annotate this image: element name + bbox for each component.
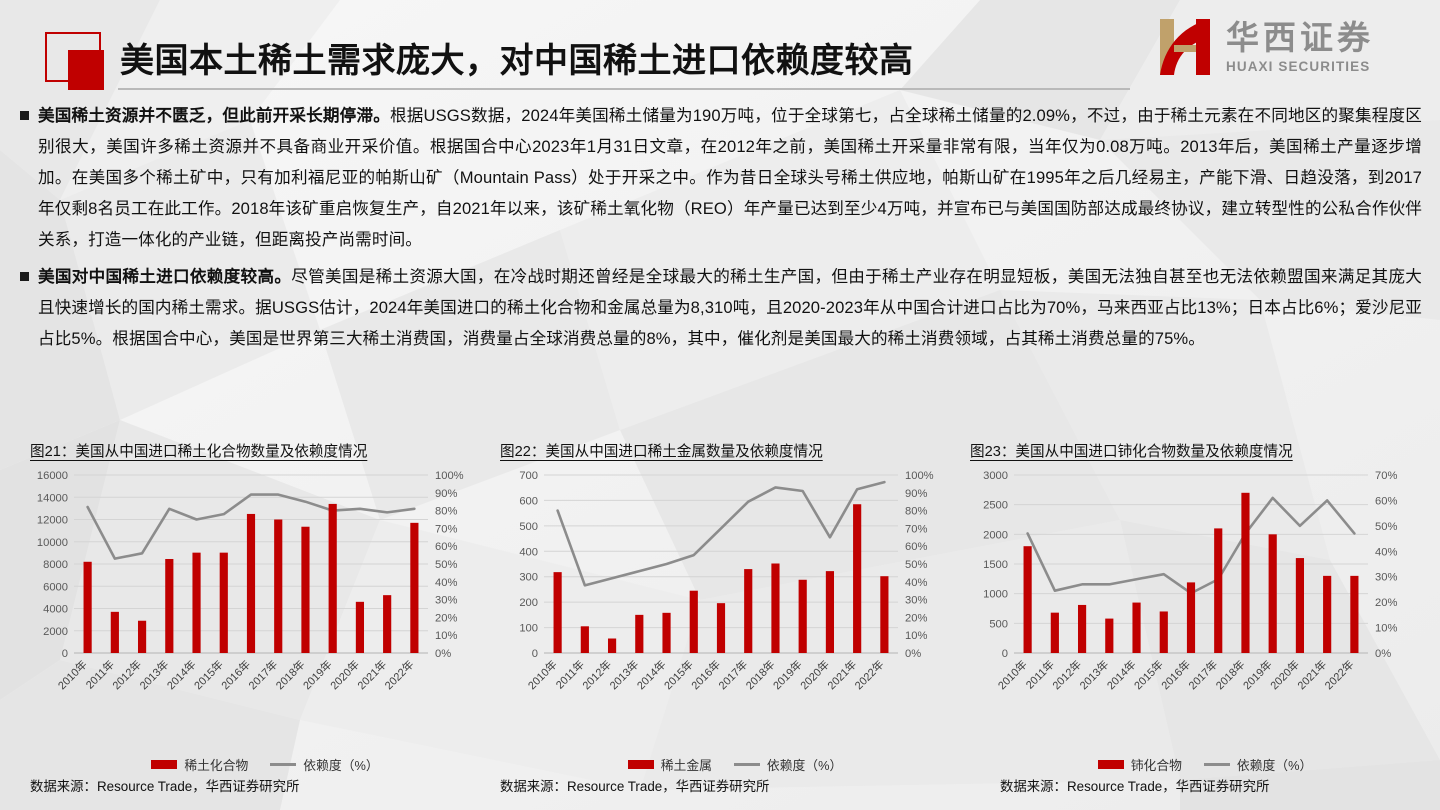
legend-item-line: 依赖度（%） (270, 755, 378, 774)
legend-line-swatch (1204, 763, 1230, 767)
paragraph-2: 美国对中国稀土进口依赖度较高。尽管美国是稀土资源大国，在冷战时期还曾经是全球最大… (0, 261, 1440, 354)
svg-text:500: 500 (989, 618, 1008, 630)
svg-text:2013年: 2013年 (136, 657, 171, 692)
svg-text:2020年: 2020年 (797, 657, 832, 692)
svg-text:2011年: 2011年 (83, 657, 117, 691)
legend-line-swatch (270, 763, 296, 767)
chart-legend-fig22: 稀土金属 依赖度（%） (500, 755, 970, 774)
svg-text:2015年: 2015年 (191, 657, 226, 692)
legend-bar-swatch (628, 760, 654, 769)
svg-text:80%: 80% (905, 506, 927, 518)
legend-item-line: 依赖度（%） (1204, 755, 1312, 774)
body-content: 美国稀土资源并不匮乏，但此前开采长期停滞。根据USGS数据，2024年美国稀土储… (0, 100, 1440, 360)
svg-text:200: 200 (519, 597, 538, 609)
svg-text:400: 400 (519, 546, 538, 558)
svg-text:2012年: 2012年 (1049, 657, 1084, 692)
chart-block-fig21: 图21：美国从中国进口稀土化合物数量及依赖度情况 020004000600080… (30, 440, 500, 800)
svg-text:2022年: 2022年 (382, 657, 417, 692)
svg-text:40%: 40% (905, 577, 927, 589)
svg-text:2014年: 2014年 (1104, 657, 1139, 692)
svg-text:60%: 60% (435, 541, 457, 553)
legend-line-label: 依赖度（%） (1237, 755, 1312, 774)
svg-text:100%: 100% (435, 470, 464, 482)
svg-text:2015年: 2015年 (1131, 657, 1166, 692)
svg-text:0: 0 (1002, 648, 1008, 660)
svg-text:2000: 2000 (983, 529, 1008, 541)
paragraph-1-lead: 美国稀土资源并不匮乏，但此前开采长期停滞。 (38, 106, 390, 125)
svg-text:600: 600 (519, 495, 538, 507)
legend-item-bar: 铈化合物 (1098, 755, 1182, 774)
svg-text:2013年: 2013年 (1076, 657, 1111, 692)
svg-text:2022年: 2022年 (852, 657, 887, 692)
chart-legend-fig21: 稀土化合物 依赖度（%） (30, 755, 500, 774)
svg-text:2016年: 2016年 (688, 657, 723, 692)
svg-text:16000: 16000 (37, 470, 68, 482)
svg-text:40%: 40% (1375, 546, 1397, 558)
svg-text:80%: 80% (435, 506, 457, 518)
svg-text:300: 300 (519, 572, 538, 584)
svg-text:30%: 30% (435, 595, 457, 607)
legend-bar-swatch (151, 760, 177, 769)
logo-text-en: HUAXI SECURITIES (1226, 59, 1374, 74)
svg-text:2017年: 2017年 (715, 657, 750, 692)
svg-text:12000: 12000 (37, 515, 68, 527)
legend-line-label: 依赖度（%） (767, 755, 842, 774)
svg-text:2018年: 2018年 (1213, 657, 1248, 692)
chart-title-fig23: 图23：美国从中国进口铈化合物数量及依赖度情况 (970, 440, 1440, 461)
svg-text:2010年: 2010年 (525, 657, 560, 692)
bullet-square-icon (20, 272, 29, 281)
legend-item-bar: 稀土化合物 (151, 755, 248, 774)
svg-text:40%: 40% (435, 577, 457, 589)
svg-text:30%: 30% (905, 595, 927, 607)
svg-text:2014年: 2014年 (164, 657, 199, 692)
svg-text:14000: 14000 (37, 492, 68, 504)
svg-text:500: 500 (519, 521, 538, 533)
svg-text:6000: 6000 (43, 581, 68, 593)
legend-item-line: 依赖度（%） (734, 755, 842, 774)
svg-text:90%: 90% (435, 488, 457, 500)
svg-text:2011年: 2011年 (1023, 657, 1057, 691)
chart-title-fig21: 图21：美国从中国进口稀土化合物数量及依赖度情况 (30, 440, 500, 461)
legend-bar-label: 铈化合物 (1131, 755, 1182, 774)
paragraph-2-lead: 美国对中国稀土进口依赖度较高。 (38, 267, 291, 286)
legend-bar-swatch (1098, 760, 1124, 769)
svg-text:2020年: 2020年 (327, 657, 362, 692)
svg-text:2019年: 2019年 (770, 657, 805, 692)
logo-text-cn: 华西证券 (1226, 21, 1374, 54)
svg-text:0%: 0% (1375, 648, 1391, 660)
svg-text:10000: 10000 (37, 537, 68, 549)
svg-text:70%: 70% (435, 523, 457, 535)
svg-text:20%: 20% (435, 612, 457, 624)
svg-text:50%: 50% (435, 559, 457, 571)
svg-text:2000: 2000 (43, 626, 68, 638)
chart-legend-fig23: 铈化合物 依赖度（%） (970, 755, 1440, 774)
svg-text:70%: 70% (1375, 470, 1397, 482)
legend-line-label: 依赖度（%） (303, 755, 378, 774)
svg-text:20%: 20% (905, 612, 927, 624)
legend-bar-label: 稀土化合物 (184, 755, 248, 774)
svg-text:2022年: 2022年 (1322, 657, 1357, 692)
svg-text:2021年: 2021年 (354, 657, 389, 692)
svg-text:50%: 50% (905, 559, 927, 571)
svg-text:2019年: 2019年 (300, 657, 335, 692)
svg-text:2018年: 2018年 (273, 657, 308, 692)
svg-text:100: 100 (519, 623, 538, 635)
svg-text:2500: 2500 (983, 500, 1008, 512)
svg-text:2021年: 2021年 (1294, 657, 1329, 692)
svg-text:10%: 10% (435, 630, 457, 642)
plot-area-fig22: 01002003004005006007000%10%20%30%40%50%6… (500, 467, 952, 703)
chart-title-fig22: 图22：美国从中国进口稀土金属数量及依赖度情况 (500, 440, 970, 461)
svg-text:0%: 0% (435, 648, 451, 660)
svg-text:2017年: 2017年 (245, 657, 280, 692)
plot-area-fig23: 0500100015002000250030000%10%20%30%40%50… (970, 467, 1422, 703)
svg-text:8000: 8000 (43, 559, 68, 571)
svg-text:70%: 70% (905, 523, 927, 535)
svg-text:4000: 4000 (43, 604, 68, 616)
svg-text:2012年: 2012年 (109, 657, 144, 692)
plot-area-fig21: 02000400060008000100001200014000160000%1… (30, 467, 482, 703)
svg-text:100%: 100% (905, 470, 934, 482)
company-logo: 华西证券 HUAXI SECURITIES (1154, 12, 1426, 82)
svg-text:1000: 1000 (983, 589, 1008, 601)
svg-text:2020年: 2020年 (1267, 657, 1302, 692)
svg-text:2013年: 2013年 (606, 657, 641, 692)
svg-text:3000: 3000 (983, 470, 1008, 482)
chart-source-fig23: 数据来源：Resource Trade，华西证券研究所 (1000, 775, 1269, 795)
svg-text:2016年: 2016年 (218, 657, 253, 692)
header-divider (118, 88, 1130, 90)
svg-text:90%: 90% (905, 488, 927, 500)
svg-text:2010年: 2010年 (55, 657, 90, 692)
svg-text:10%: 10% (905, 630, 927, 642)
chart-source-fig21: 数据来源：Resource Trade，华西证券研究所 (30, 775, 299, 795)
legend-item-bar: 稀土金属 (628, 755, 712, 774)
svg-text:20%: 20% (1375, 597, 1397, 609)
slide-header: 美国本土稀土需求庞大，对中国稀土进口依赖度较高 华西证券 HUAXI SECUR… (0, 0, 1440, 92)
header-accent-block (68, 50, 104, 90)
huaxi-logo-icon (1154, 15, 1216, 79)
svg-text:2015年: 2015年 (661, 657, 696, 692)
svg-text:60%: 60% (1375, 495, 1397, 507)
svg-text:2011年: 2011年 (553, 657, 587, 691)
svg-text:1500: 1500 (983, 559, 1008, 571)
svg-text:10%: 10% (1375, 623, 1397, 635)
chart-block-fig23: 图23：美国从中国进口铈化合物数量及依赖度情况 0500100015002000… (970, 440, 1440, 800)
svg-text:50%: 50% (1375, 521, 1397, 533)
charts-row: 图21：美国从中国进口稀土化合物数量及依赖度情况 020004000600080… (0, 440, 1440, 810)
svg-text:700: 700 (519, 470, 538, 482)
svg-text:2017年: 2017年 (1185, 657, 1220, 692)
page-title: 美国本土稀土需求庞大，对中国稀土进口依赖度较高 (120, 33, 914, 82)
legend-bar-label: 稀土金属 (661, 755, 712, 774)
svg-text:0: 0 (62, 648, 68, 660)
svg-text:0: 0 (532, 648, 538, 660)
svg-text:2021年: 2021年 (824, 657, 859, 692)
svg-text:60%: 60% (905, 541, 927, 553)
chart-block-fig22: 图22：美国从中国进口稀土金属数量及依赖度情况 0100200300400500… (500, 440, 970, 800)
svg-text:2014年: 2014年 (634, 657, 669, 692)
bullet-square-icon (20, 111, 29, 120)
svg-text:2018年: 2018年 (743, 657, 778, 692)
paragraph-1: 美国稀土资源并不匮乏，但此前开采长期停滞。根据USGS数据，2024年美国稀土储… (0, 100, 1440, 255)
svg-text:0%: 0% (905, 648, 921, 660)
svg-text:2012年: 2012年 (579, 657, 614, 692)
chart-source-fig22: 数据来源：Resource Trade，华西证券研究所 (500, 775, 769, 795)
svg-text:2019年: 2019年 (1240, 657, 1275, 692)
svg-text:2016年: 2016年 (1158, 657, 1193, 692)
svg-text:30%: 30% (1375, 572, 1397, 584)
legend-line-swatch (734, 763, 760, 767)
svg-text:2010年: 2010年 (995, 657, 1030, 692)
paragraph-1-body: 根据USGS数据，2024年美国稀土储量为190万吨，位于全球第七，占全球稀土储… (38, 106, 1422, 249)
